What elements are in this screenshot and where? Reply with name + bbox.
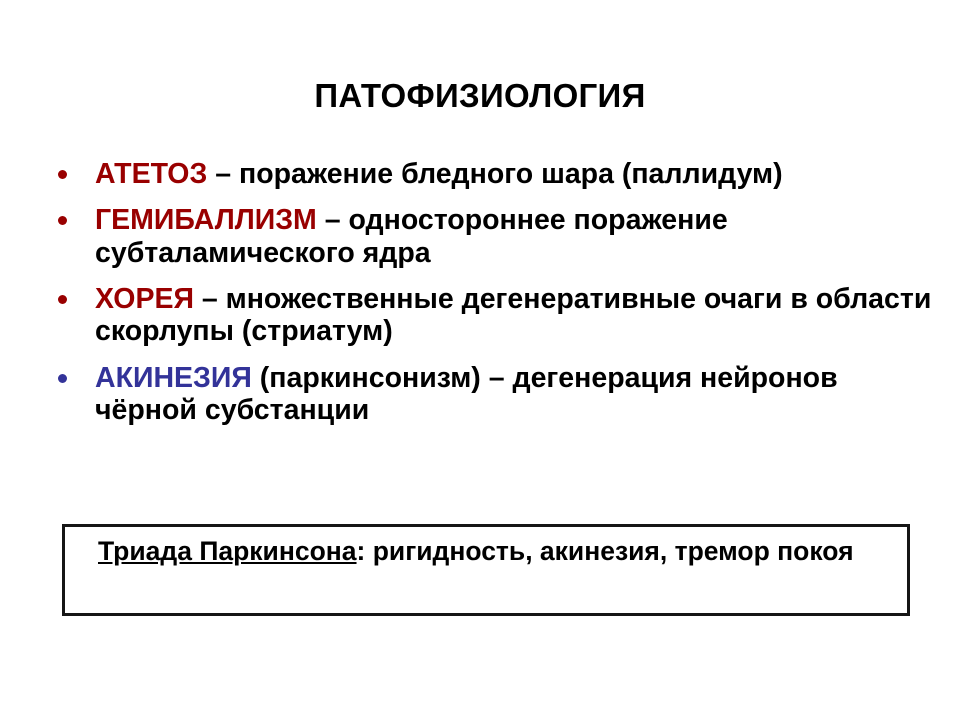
list-item-description: – множественные дегенеративные очаги в о… <box>95 283 931 347</box>
callout-term: Триада Паркинсона <box>98 536 357 566</box>
list-item-description: – поражение бледного шара (паллидум) <box>207 158 782 190</box>
list-item-text: ХОРЕЯ – множественные дегенеративные оча… <box>95 283 931 347</box>
callout-text: Триада Паркинсона: ригидность, акинезия,… <box>98 536 907 568</box>
bullet-dot-icon <box>58 216 67 225</box>
list-item-text: ГЕМИБАЛЛИЗМ – одностороннее поражение су… <box>95 204 728 268</box>
slide-canvas: ПАТОФИЗИОЛОГИЯ АТЕТОЗ – поражение бледно… <box>0 0 960 720</box>
list-item-term: АКИНЕЗИЯ <box>95 362 252 394</box>
list-item: ХОРЕЯ – множественные дегенеративные оча… <box>52 283 932 348</box>
bullet-dot-icon <box>58 295 67 304</box>
bullet-list: АТЕТОЗ – поражение бледного шара (паллид… <box>52 158 932 426</box>
list-item: АТЕТОЗ – поражение бледного шара (паллид… <box>52 158 932 190</box>
list-item-text: АКИНЕЗИЯ (паркинсонизм) – дегенерация не… <box>95 362 838 426</box>
list-item: ГЕМИБАЛЛИЗМ – одностороннее поражение су… <box>52 204 932 269</box>
list-item-term: АТЕТОЗ <box>95 158 207 190</box>
list-item-term: ХОРЕЯ <box>95 283 194 315</box>
bullet-dot-icon <box>58 170 67 179</box>
callout-box: Триада Паркинсона: ригидность, акинезия,… <box>62 524 910 616</box>
bullet-dot-icon <box>58 374 67 383</box>
list-item-term: ГЕМИБАЛЛИЗМ <box>95 204 317 236</box>
list-item-text: АТЕТОЗ – поражение бледного шара (паллид… <box>95 158 783 190</box>
callout-description: : ригидность, акинезия, тремор покоя <box>357 536 854 566</box>
page-title: ПАТОФИЗИОЛОГИЯ <box>0 78 960 114</box>
list-item: АКИНЕЗИЯ (паркинсонизм) – дегенерация не… <box>52 362 932 427</box>
